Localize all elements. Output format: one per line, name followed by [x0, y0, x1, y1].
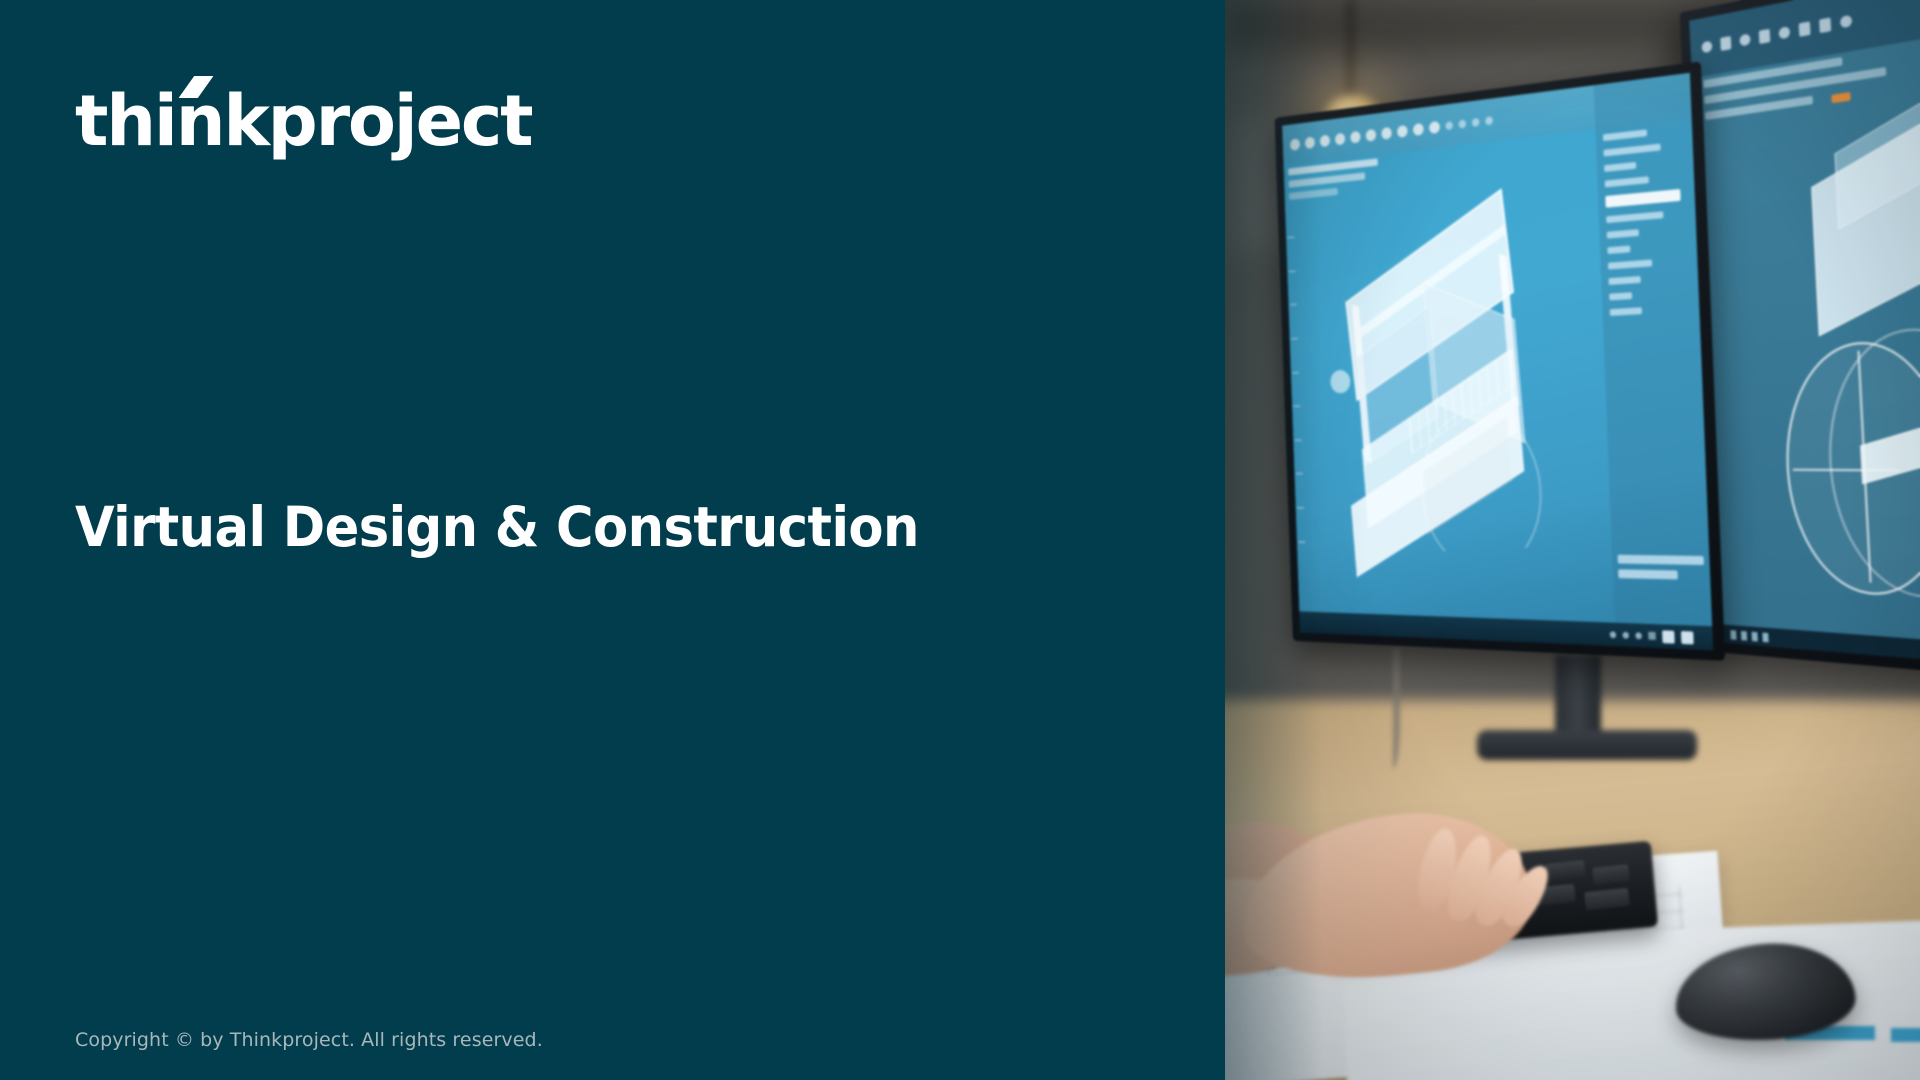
secondary-monitor-screen: [1689, 0, 1920, 647]
monitor-cable: [1383, 648, 1400, 768]
copyright-text: Copyright © by Thinkproject. All rights …: [75, 1029, 543, 1051]
monitor-stand-base: [1477, 730, 1697, 760]
primary-monitor-screen: [1282, 73, 1712, 626]
monitor-stand-neck: [1555, 655, 1601, 741]
logo-wordmark: thinkproject: [75, 86, 531, 156]
model-node-sphere: [1330, 369, 1352, 394]
thinkproject-logo: thinkproject: [75, 82, 531, 156]
title-panel: thinkproject Virtual Design & Constructi…: [0, 0, 1225, 1080]
cad-panel-footer: [1618, 555, 1705, 586]
cad-menu-strip: [1288, 158, 1379, 208]
blueprint-accent-bar-2: [1891, 1028, 1920, 1042]
presentation-slide: thinkproject Virtual Design & Constructi…: [0, 0, 1920, 1080]
primary-monitor: [1275, 61, 1726, 660]
page-title: Virtual Design & Construction: [75, 497, 919, 557]
workspace-photo: [1225, 0, 1920, 1080]
bim-3d-model: [1318, 197, 1589, 526]
